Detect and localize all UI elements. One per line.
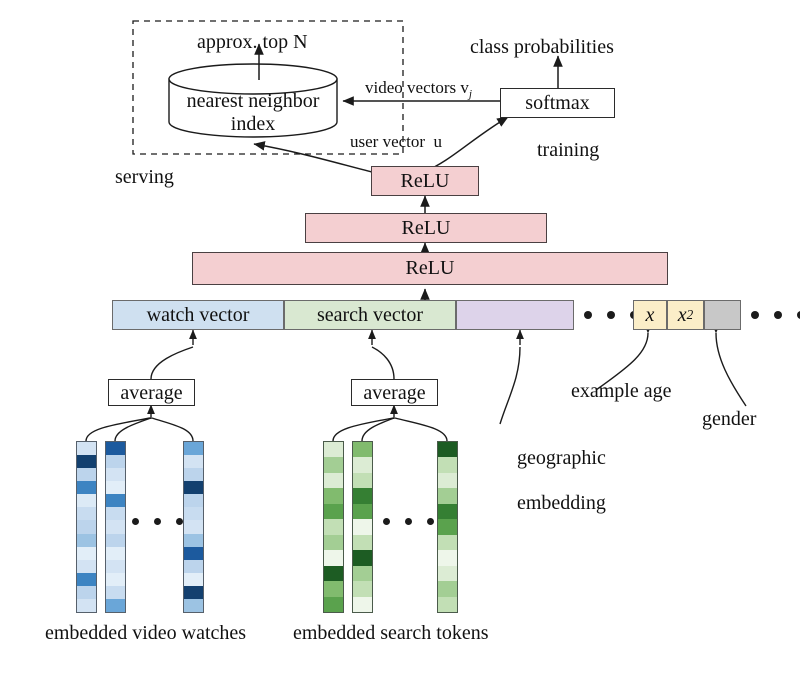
video-embedding-column[interactable] (76, 441, 97, 613)
ellipsis-dot (427, 518, 434, 525)
embedding-cell (353, 442, 372, 457)
feature-x-label: x (646, 304, 655, 327)
ellipsis-dot (154, 518, 161, 525)
embedding-cell (438, 550, 457, 565)
video-embedding-column[interactable] (183, 441, 204, 613)
embedding-cell (324, 442, 343, 457)
embedding-cell (438, 473, 457, 488)
embedding-cell (77, 507, 96, 520)
embedding-cell (184, 547, 203, 560)
average-right-label: average (363, 383, 425, 403)
embedding-cell (438, 504, 457, 519)
search-embedding-column[interactable] (323, 441, 344, 613)
class-probabilities-label: class probabilities (470, 36, 614, 58)
embedding-cell (184, 494, 203, 507)
training-label: training (537, 139, 599, 161)
embedding-cell (77, 586, 96, 599)
embedded-video-watches-label: embedded video watches (45, 622, 246, 644)
video-embedding-column[interactable] (105, 441, 126, 613)
embedding-cell (106, 560, 125, 573)
embedding-cell (77, 468, 96, 481)
ellipsis-dot (176, 518, 183, 525)
embedding-cell (353, 488, 372, 503)
embedding-cell (353, 535, 372, 550)
example-age-label: example age (571, 380, 672, 402)
ellipsis-dot (584, 311, 592, 319)
embedding-cell (184, 520, 203, 533)
embedding-cell (184, 455, 203, 468)
embedding-cell (106, 455, 125, 468)
feature-x2-exponent: 2 (687, 307, 694, 323)
embedding-cell (438, 519, 457, 534)
embedding-cell (106, 573, 125, 586)
example-age-x-cell[interactable]: x (633, 300, 667, 330)
embedding-cell (77, 547, 96, 560)
embedding-cell (353, 504, 372, 519)
search-embedding-ellipsis (383, 518, 434, 525)
embedding-cell (353, 581, 372, 596)
diagram-canvas: approx. top N nearest neighbor index cla… (0, 0, 800, 674)
embedding-cell (106, 481, 125, 494)
embedding-cell (106, 442, 125, 455)
embedding-cell (106, 599, 125, 612)
ellipsis-dot (607, 311, 615, 319)
embedding-cell (106, 586, 125, 599)
embedding-cell (324, 550, 343, 565)
relu-layer-mid[interactable]: ReLU (305, 213, 547, 243)
average-box-watches[interactable]: average (108, 379, 195, 406)
user-vector-label: user vector u (350, 132, 442, 151)
embedding-cell (77, 573, 96, 586)
watch-vector-segment[interactable]: watch vector (112, 300, 284, 330)
embedding-cell (184, 468, 203, 481)
geographic-embedding-label: geographic embedding (497, 425, 606, 537)
search-embedding-column[interactable] (437, 441, 458, 613)
embedding-cell (324, 473, 343, 488)
embedding-cell (106, 507, 125, 520)
geographic-embedding-segment[interactable] (456, 300, 574, 330)
embedding-cell (77, 599, 96, 612)
embedding-cell (184, 586, 203, 599)
embedding-cell (353, 550, 372, 565)
serving-label: serving (115, 166, 174, 188)
search-vector-label: search vector (317, 304, 423, 327)
embedding-cell (353, 457, 372, 472)
nn-index-line1: nearest neighbor (187, 90, 320, 112)
embedding-cell (184, 442, 203, 455)
softmax-box[interactable]: softmax (500, 88, 615, 118)
embedding-cell (438, 535, 457, 550)
embedding-cell (324, 519, 343, 534)
feature-x2-base: x (678, 304, 687, 327)
search-embedding-column[interactable] (352, 441, 373, 613)
embedding-cell (106, 468, 125, 481)
embedding-cell (438, 488, 457, 503)
embedding-cell (324, 581, 343, 596)
search-vector-segment[interactable]: search vector (284, 300, 456, 330)
relu-layer-bottom[interactable]: ReLU (192, 252, 668, 285)
relu-layer-top[interactable]: ReLU (371, 166, 479, 196)
embedding-cell (77, 455, 96, 468)
geo-embed-line1: geographic (517, 447, 606, 469)
nn-index-line2: index (231, 113, 275, 135)
embedding-cell (184, 599, 203, 612)
embedding-cell (324, 457, 343, 472)
embedding-cell (353, 473, 372, 488)
embedding-cell (77, 442, 96, 455)
nearest-neighbor-index-label: nearest neighbor index (169, 90, 337, 136)
embedding-cell (438, 566, 457, 581)
embedding-cell (106, 547, 125, 560)
relu-top-label: ReLU (401, 170, 450, 193)
video-vectors-label: video vectors vj (365, 78, 472, 101)
embedding-cell (77, 520, 96, 533)
embedding-cell (77, 560, 96, 573)
embedding-cell (184, 481, 203, 494)
relu-bottom-label: ReLU (406, 257, 455, 280)
embedding-cell (438, 597, 457, 612)
average-box-search[interactable]: average (351, 379, 438, 406)
embedding-cell (324, 566, 343, 581)
watch-vector-label: watch vector (147, 304, 250, 327)
embedding-cell (353, 519, 372, 534)
relu-mid-label: ReLU (402, 217, 451, 240)
video-embedding-ellipsis (132, 518, 183, 525)
embedding-cell (324, 488, 343, 503)
embedding-cell (438, 457, 457, 472)
embedding-cell (77, 481, 96, 494)
geo-embed-line2: embedding (517, 492, 606, 514)
average-left-label: average (120, 383, 182, 403)
embedding-cell (106, 494, 125, 507)
embedding-cell (77, 494, 96, 507)
ellipsis-dot (751, 311, 759, 319)
feature-bar-ellipsis-left (584, 311, 638, 319)
gender-label: gender (702, 408, 756, 430)
gender-cell[interactable] (704, 300, 741, 330)
embedding-cell (324, 535, 343, 550)
embedding-cell (438, 442, 457, 457)
embedding-cell (77, 534, 96, 547)
embedding-cell (184, 573, 203, 586)
embedding-cell (353, 566, 372, 581)
ellipsis-dot (383, 518, 390, 525)
video-vectors-subscript: j (469, 88, 472, 100)
ellipsis-dot (132, 518, 139, 525)
embedding-cell (324, 504, 343, 519)
embedded-search-tokens-label: embedded search tokens (293, 622, 488, 644)
embedding-cell (106, 520, 125, 533)
softmax-label: softmax (525, 93, 589, 113)
embedding-cell (438, 581, 457, 596)
video-vectors-text: video vectors v (365, 78, 469, 97)
ellipsis-dot (774, 311, 782, 319)
embedding-cell (106, 534, 125, 547)
embedding-cell (184, 534, 203, 547)
feature-bar-ellipsis-right (751, 311, 800, 319)
approx-top-n-label: approx. top N (197, 31, 308, 53)
embedding-cell (184, 560, 203, 573)
embedding-cell (324, 597, 343, 612)
embedding-cell (353, 597, 372, 612)
example-age-x-squared-cell[interactable]: x2 (667, 300, 704, 330)
ellipsis-dot (405, 518, 412, 525)
embedding-cell (184, 507, 203, 520)
